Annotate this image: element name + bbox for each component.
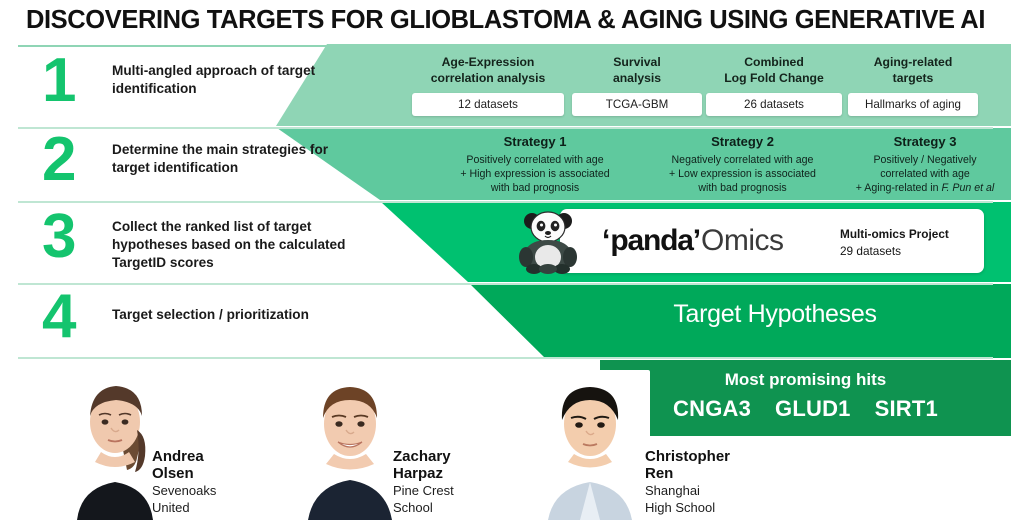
- strategy-heading: Strategy 2: [640, 134, 845, 149]
- strategy-1: Strategy 1 Positively correlated with ag…: [430, 134, 640, 196]
- strategy-heading: Strategy 1: [430, 134, 640, 149]
- most-promising-hits-panel: Most promising hits CNGA3GLUD1SIRT1: [600, 360, 1011, 436]
- pandaomics-project-meta: Multi-omics Project 29 datasets: [840, 226, 980, 259]
- column-heading: Aging-related targets: [848, 55, 978, 86]
- strategy-citation-line: + Aging-related in F. Pun et al: [845, 181, 1005, 195]
- strategy-heading: Strategy 3: [845, 134, 1005, 149]
- hits-heading: Most promising hits: [600, 370, 1011, 390]
- gene-glud1: GLUD1: [775, 396, 851, 421]
- strategy-body: Positively / Negatively correlated with …: [845, 153, 1005, 196]
- analysis-column-logfoldchange: Combined Log Fold Change 26 datasets: [706, 55, 842, 116]
- step-number: 1: [42, 56, 74, 107]
- project-dataset-count: 29 datasets: [840, 243, 980, 260]
- person-school: Pine Crest School: [393, 482, 458, 517]
- person-name: Christopher Ren: [645, 448, 730, 482]
- avatar: [530, 370, 650, 520]
- page-title: DISCOVERING TARGETS FOR GLIOBLASTOMA & A…: [0, 6, 1011, 35]
- strategy-body: Negatively correlated with age + Low exp…: [640, 153, 845, 196]
- row-divider-2: [18, 201, 993, 203]
- step-label: Collect the ranked list of target hypoth…: [112, 218, 357, 272]
- person-location: International Division: [645, 517, 730, 520]
- dataset-chip: 12 datasets: [412, 93, 564, 116]
- avatar: [290, 370, 410, 520]
- step-number: 2: [42, 135, 74, 186]
- analysis-column-survival: Survival analysis TCGA-GBM: [572, 55, 702, 116]
- person-location: Fort Lauderdale: [393, 517, 458, 520]
- person-caption: Andrea Olsen Sevenoaks United Kingdom: [152, 448, 216, 520]
- analysis-column-age-expression: Age-Expression correlation analysis 12 d…: [412, 55, 564, 116]
- gene-sirt1: SIRT1: [875, 396, 938, 421]
- dataset-chip: 26 datasets: [706, 93, 842, 116]
- person-caption: Zachary Harpaz Pine Crest School Fort La…: [393, 448, 458, 520]
- column-heading: Survival analysis: [572, 55, 702, 86]
- row-divider-3: [18, 283, 993, 285]
- citation-reference: F. Pun et al: [941, 182, 994, 194]
- person-school: Sevenoaks: [152, 482, 216, 499]
- panda-logo-icon: [512, 205, 584, 277]
- dataset-chip: TCGA-GBM: [572, 93, 702, 116]
- project-name: Multi-omics Project: [840, 226, 980, 243]
- gene-cnga3: CNGA3: [673, 396, 751, 421]
- strategy-3: Strategy 3 Positively / Negatively corre…: [845, 134, 1005, 196]
- infographic-poster: DISCOVERING TARGETS FOR GLIOBLASTOMA & A…: [0, 0, 1011, 520]
- step-label: Multi-angled approach of target identifi…: [112, 62, 337, 98]
- target-hypotheses-label: Target Hypotheses: [560, 300, 990, 329]
- quote-mark-icon: ’: [693, 224, 701, 257]
- step-label: Target selection / prioritization: [112, 306, 362, 324]
- row-divider-4: [18, 357, 993, 359]
- column-heading: Age-Expression correlation analysis: [412, 55, 564, 86]
- step-label: Determine the main strategies for target…: [112, 141, 337, 177]
- strategy-body: Positively correlated with age + High ex…: [430, 153, 640, 196]
- person-school: Shanghai High School: [645, 482, 730, 517]
- row-divider-1: [18, 127, 993, 129]
- column-heading: Combined Log Fold Change: [706, 55, 842, 86]
- pandaomics-wordmark: ‘panda’Omics: [602, 226, 784, 256]
- step-number: 4: [42, 292, 74, 343]
- strategy-2: Strategy 2 Negatively correlated with ag…: [640, 134, 845, 196]
- person-name: Andrea Olsen: [152, 448, 216, 482]
- analysis-column-aging-related: Aging-related targets Hallmarks of aging: [848, 55, 978, 116]
- step-number: 3: [42, 212, 74, 263]
- person-location: United Kingdom: [152, 499, 216, 520]
- person-caption: Christopher Ren Shanghai High School Int…: [645, 448, 730, 520]
- hits-gene-list: CNGA3GLUD1SIRT1: [600, 396, 1011, 422]
- person-name: Zachary Harpaz: [393, 448, 458, 482]
- dataset-chip: Hallmarks of aging: [848, 93, 978, 116]
